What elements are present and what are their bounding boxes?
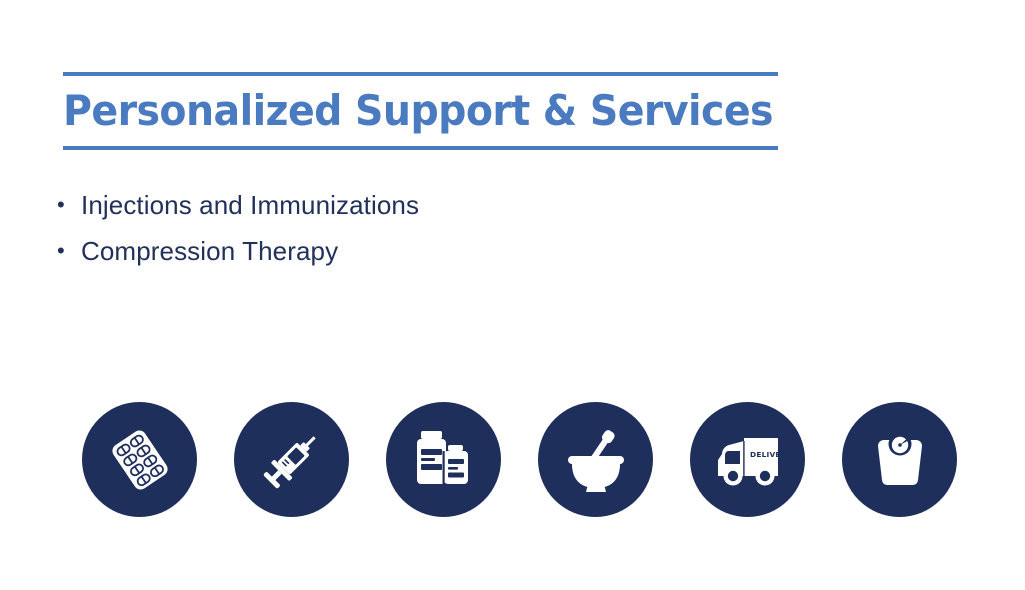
title-block: Personalized Support & Services	[63, 72, 778, 150]
icon-badge-pill-bottles	[386, 402, 501, 517]
title-rule-bottom	[63, 146, 778, 150]
blister-pack-icon	[104, 424, 176, 496]
bullet-label: Compression Therapy	[81, 228, 338, 274]
list-item: • Compression Therapy	[57, 228, 419, 274]
icon-badge-weight-scale	[842, 402, 957, 517]
pill-bottles-icon	[408, 424, 480, 496]
delivery-truck-label: DELIVERY	[750, 450, 788, 459]
icon-badge-mortar-pestle	[538, 402, 653, 517]
icon-badge-delivery-truck: DELIVERY	[690, 402, 805, 517]
icon-row: DELIVERY	[82, 402, 957, 517]
weight-scale-icon	[864, 424, 936, 496]
icon-badge-syringe	[234, 402, 349, 517]
bullet-list: • Injections and Immunizations • Compres…	[57, 182, 419, 274]
bullet-marker: •	[57, 228, 81, 274]
mortar-and-pestle-icon	[558, 422, 634, 498]
list-item: • Injections and Immunizations	[57, 182, 419, 228]
icon-badge-blister-pack	[82, 402, 197, 517]
page-title: Personalized Support & Services	[63, 76, 735, 146]
bullet-marker: •	[57, 182, 81, 228]
syringe-icon	[256, 424, 328, 496]
delivery-truck-icon: DELIVERY	[708, 420, 788, 500]
bullet-label: Injections and Immunizations	[81, 182, 419, 228]
slide-canvas: Personalized Support & Services • Inject…	[0, 0, 1025, 590]
